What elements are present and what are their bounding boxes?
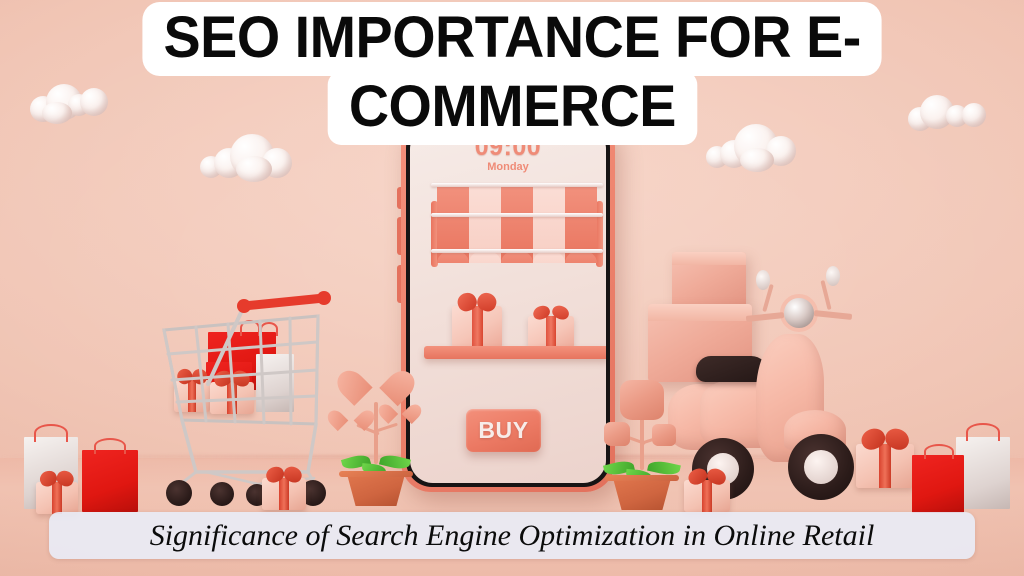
poster-canvas: 09:00 Monday [0, 0, 1024, 576]
scooter-mirror-right [826, 266, 840, 286]
poster-subtitle-bar: Significance of Search Engine Optimizati… [49, 512, 975, 559]
bag-handle-white-right [966, 423, 1000, 441]
heart-plant-pot [342, 464, 410, 506]
scooter-handlebar-right [814, 310, 852, 320]
cart-frame-icon [148, 276, 366, 510]
phone-side-button-volume-down[interactable] [397, 265, 401, 303]
cart-wheel-1 [166, 480, 192, 506]
poly-plant-pot [608, 468, 676, 510]
poly-flower-large [620, 380, 664, 420]
shopping-bag-red-left [82, 450, 138, 512]
shop-awning-icon [431, 183, 603, 271]
smartphone-mockup: 09:00 Monday [401, 117, 615, 492]
heart-flower-small-right [388, 406, 412, 426]
product-shelf [424, 346, 606, 359]
scooter-headlight-icon [780, 294, 818, 332]
shopping-cart [148, 276, 366, 510]
poster-subtitle: Significance of Search Engine Optimizati… [150, 519, 875, 553]
awning-bar-bottom [431, 249, 603, 253]
gift-box-floor-right [856, 444, 914, 488]
gift-box-shelf-right [528, 316, 574, 348]
phone-side-button-mute[interactable] [397, 187, 401, 209]
phone-side-button-volume-up[interactable] [397, 217, 401, 255]
poly-flower-small-right [652, 424, 676, 446]
buy-button-label: BUY [478, 417, 528, 444]
clock-day: Monday [410, 161, 606, 173]
buy-button[interactable]: BUY [466, 409, 541, 452]
title-line-1: SEO IMPORTANCE FOR E- [142, 2, 882, 76]
gift-box-floor-center [684, 480, 730, 512]
heart-flower-small-left [338, 412, 364, 434]
title-line-2: COMMERCE [327, 71, 696, 145]
awning-bar-mid [431, 213, 603, 217]
heart-plant [336, 372, 418, 504]
poster-title: SEO IMPORTANCE FOR E- COMMERCE [0, 0, 1024, 145]
heart-flower-large [354, 374, 398, 410]
awning-bar-top [431, 183, 603, 187]
shopping-bag-red-right [912, 455, 964, 513]
poly-plant [600, 378, 684, 506]
cart-wheel-2 [210, 482, 234, 506]
phone-bezel: 09:00 Monday [406, 122, 610, 487]
poly-flower-small-left [604, 422, 630, 446]
gift-box-floor-left [36, 482, 78, 514]
parcel-box-top [672, 252, 746, 310]
gift-box-shelf-left [452, 306, 502, 348]
gift-box-floor-cart [262, 478, 306, 510]
bag-handle-white-left [34, 424, 68, 442]
bag-handle-red-right [924, 444, 954, 459]
phone-screen: 09:00 Monday [410, 126, 606, 483]
awning-post-right [596, 201, 603, 267]
bag-handle-red-left [94, 438, 126, 454]
shopping-bag-white-right [956, 437, 1010, 509]
scooter-front-wheel [788, 434, 854, 500]
